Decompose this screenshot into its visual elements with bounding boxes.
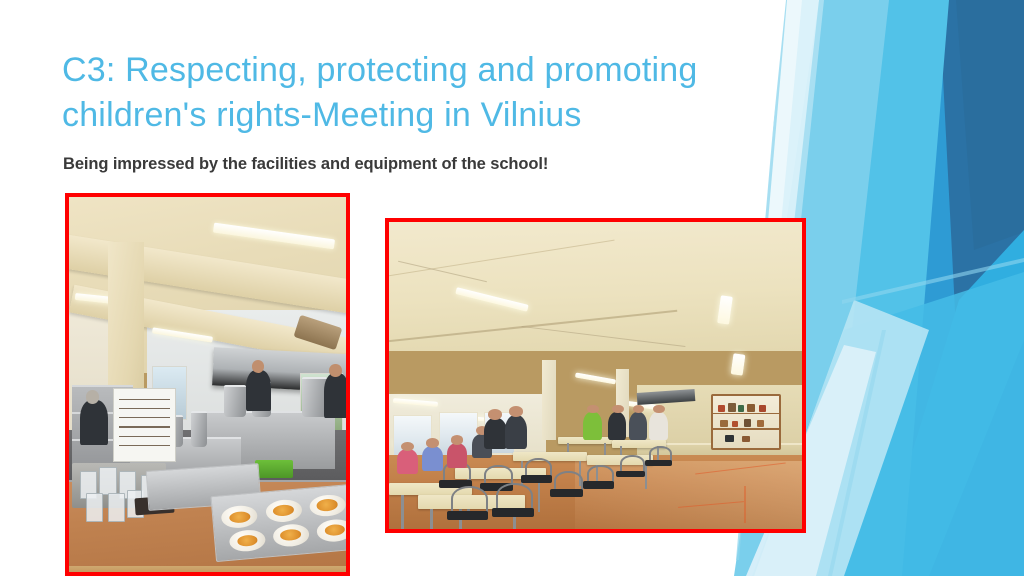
kitchen-glass	[108, 493, 125, 521]
cafeteria-child-head	[401, 442, 413, 451]
cafeteria-standing-person	[649, 412, 668, 440]
kitchen-plate	[272, 523, 310, 548]
kitchen-staff-person	[80, 400, 108, 445]
cafeteria-person-head	[612, 405, 624, 414]
cafeteria-chair	[451, 486, 488, 513]
school-cafeteria-photo	[385, 218, 806, 533]
kitchen-pot	[191, 411, 208, 447]
cafeteria-chair	[496, 483, 533, 510]
cafeteria-pillar	[542, 360, 556, 440]
cafeteria-seated-child	[422, 446, 443, 471]
kitchen-green-container	[255, 460, 294, 479]
kitchen-plate	[309, 493, 346, 518]
cafeteria-standing-person	[608, 412, 627, 440]
kitchen-staff-head	[86, 390, 100, 404]
kitchen-plate	[228, 528, 266, 553]
kitchen-staff-head	[329, 364, 341, 377]
page-title: C3: Respecting, protecting and promoting…	[62, 48, 762, 138]
school-cafeteria-photo-content	[389, 222, 802, 529]
kitchen-staff-head	[252, 360, 264, 373]
cafeteria-table	[513, 452, 587, 461]
cafeteria-chair-seat	[521, 475, 552, 482]
kitchen-glass	[86, 493, 103, 521]
cafeteria-child-head	[488, 409, 502, 419]
cafeteria-person-head	[653, 405, 665, 414]
cafeteria-chair-seat	[447, 511, 488, 521]
cafeteria-seated-child	[505, 415, 528, 449]
kitchen-staff-person	[246, 370, 271, 411]
kitchen-glass	[99, 467, 116, 495]
cafeteria-seated-child	[447, 443, 468, 468]
kitchen-plate	[221, 504, 259, 529]
cafeteria-child-head	[509, 406, 523, 416]
cafeteria-display-shelf	[711, 394, 781, 450]
kitchen-staff-person	[324, 373, 346, 418]
school-kitchen-photo	[65, 193, 350, 576]
cafeteria-child-head	[426, 438, 438, 447]
kitchen-pot	[224, 385, 246, 417]
cafeteria-standing-person	[583, 412, 602, 440]
presentation-slide: C3: Respecting, protecting and promoting…	[0, 0, 1024, 576]
school-kitchen-photo-content	[69, 197, 346, 572]
kitchen-counter-front	[69, 566, 346, 572]
cafeteria-person-head	[587, 405, 599, 414]
subtitle-block: Being impressed by the facilities and eq…	[63, 155, 783, 174]
kitchen-menu-whiteboard	[113, 388, 176, 461]
kitchen-plate	[265, 498, 303, 523]
cafeteria-chair-seat	[550, 489, 583, 497]
cafeteria-chair	[554, 471, 583, 491]
cafeteria-standing-person	[629, 412, 648, 440]
cafeteria-fluorescent-light	[575, 372, 617, 384]
cafeteria-chair-seat	[645, 460, 672, 466]
cafeteria-chair-seat	[616, 471, 645, 478]
slide-subtitle: Being impressed by the facilities and eq…	[63, 155, 783, 174]
cafeteria-ceiling	[389, 222, 802, 351]
cafeteria-fluorescent-light	[730, 353, 745, 376]
cafeteria-chair	[484, 465, 513, 485]
cafeteria-chair-seat	[492, 508, 533, 518]
cafeteria-floor-marking	[744, 486, 746, 523]
kitchen-pot	[302, 377, 327, 417]
cafeteria-child-head	[451, 435, 463, 444]
cafeteria-seated-child	[484, 418, 507, 449]
title-block: C3: Respecting, protecting and promoting…	[62, 48, 762, 138]
kitchen-serving-tray	[210, 484, 346, 562]
cafeteria-chair-seat	[583, 481, 614, 488]
kitchen-plate	[316, 518, 346, 543]
cafeteria-seated-child	[397, 449, 418, 474]
